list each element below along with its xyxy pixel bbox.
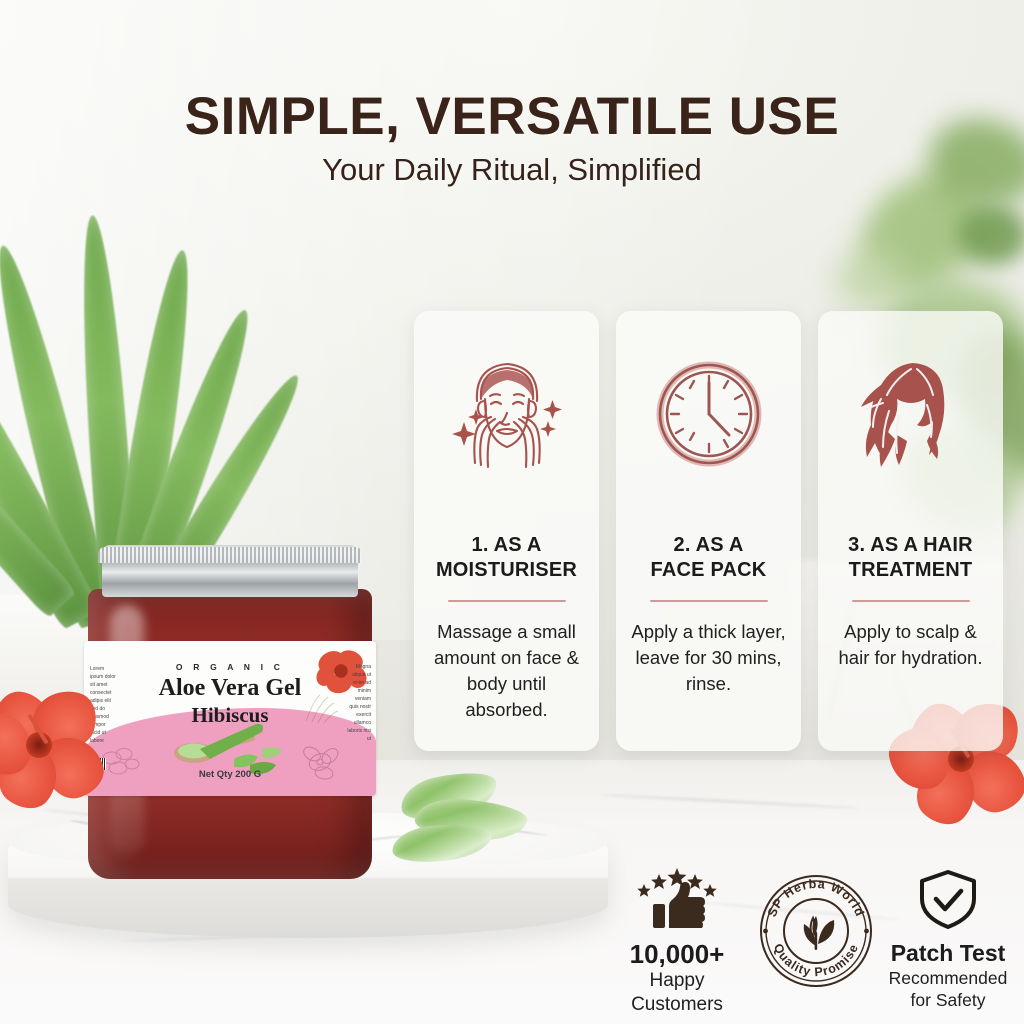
- badge-patch-test: Patch Test Recommended for Safety: [872, 866, 1024, 1011]
- card-title: 2. AS A FACE PACK: [625, 533, 793, 583]
- jar-lid-ridges: [98, 547, 362, 563]
- card-description: Massage a small amount on face & body un…: [427, 619, 587, 723]
- happy-customers-line1: Happy: [602, 969, 752, 993]
- thumbs-up-stars-icon: [631, 866, 723, 928]
- label-organic-text: O R G A N I C: [84, 662, 376, 672]
- blurred-foliage-icon: [958, 205, 1024, 265]
- card-divider: [650, 600, 768, 602]
- page-headline: SIMPLE, VERSATILE USE: [0, 86, 1024, 147]
- product-infographic: O R G A N I C Aloe Vera Gel Hibiscus Net…: [0, 0, 1024, 1024]
- badge-quality-seal: SP Herba World Quality Promise: [756, 866, 876, 995]
- clock-icon: [649, 355, 769, 473]
- card-divider: [852, 600, 970, 602]
- card-divider: [448, 600, 566, 602]
- card-description: Apply to scalp & hair for hydration.: [831, 619, 991, 671]
- label-side-directions: Magna aliqua utenim ad minimveniam quis …: [345, 663, 371, 743]
- card-description: Apply a thick layer, leave for 30 mins, …: [629, 619, 789, 697]
- page-subheadline: Your Daily Ritual, Simplified: [0, 152, 1024, 188]
- usage-card-hair-treatment[interactable]: 3. AS A HAIR TREATMENT Apply to scalp & …: [818, 311, 1003, 751]
- trust-badges-row: 10,000+ Happy Customers SP Herba World: [600, 866, 1024, 1006]
- card-title-line2: MOISTURISER: [436, 559, 577, 581]
- usage-cards-row: 1. AS A MOISTURISER Massage a small amou…: [414, 311, 1003, 751]
- shield-check-icon: [914, 868, 982, 930]
- seal-top-text: SP Herba World: [765, 877, 867, 919]
- card-title-line2: FACE PACK: [651, 559, 767, 581]
- hibiscus-flower-left: [0, 690, 112, 820]
- long-hair-icon: [851, 355, 971, 473]
- card-title-line2: TREATMENT: [849, 559, 973, 581]
- card-title: 3. AS A HAIR TREATMENT: [827, 533, 995, 583]
- card-title-line1: 1. AS A: [472, 534, 542, 556]
- blurred-foliage-icon: [835, 250, 905, 310]
- patch-test-line2: for Safety: [872, 989, 1024, 1011]
- face-massage-icon: [447, 355, 567, 473]
- usage-card-moisturiser[interactable]: 1. AS A MOISTURISER Massage a small amou…: [414, 311, 599, 751]
- label-outline-aloe: [300, 693, 340, 725]
- happy-customers-count: 10,000+: [602, 939, 752, 969]
- badge-happy-customers: 10,000+ Happy Customers: [602, 866, 752, 1017]
- card-title-line1: 2. AS A: [674, 534, 744, 556]
- product-label: O R G A N I C Aloe Vera Gel Hibiscus Net…: [84, 641, 376, 796]
- svg-text:SP Herba World: SP Herba World: [765, 877, 867, 919]
- card-title-line1: 3. AS A HAIR: [848, 534, 973, 556]
- happy-customers-line2: Customers: [602, 993, 752, 1017]
- label-outline-flower-right: [294, 740, 346, 784]
- leaf-seal-icon: SP Herba World Quality Promise: [757, 872, 875, 990]
- product-jar: O R G A N I C Aloe Vera Gel Hibiscus Net…: [80, 545, 380, 880]
- usage-card-face-pack[interactable]: 2. AS A FACE PACK Apply a thick layer, l…: [616, 311, 801, 751]
- patch-test-title: Patch Test: [872, 940, 1024, 967]
- patch-test-line1: Recommended: [872, 967, 1024, 989]
- card-title: 1. AS A MOISTURISER: [423, 533, 591, 583]
